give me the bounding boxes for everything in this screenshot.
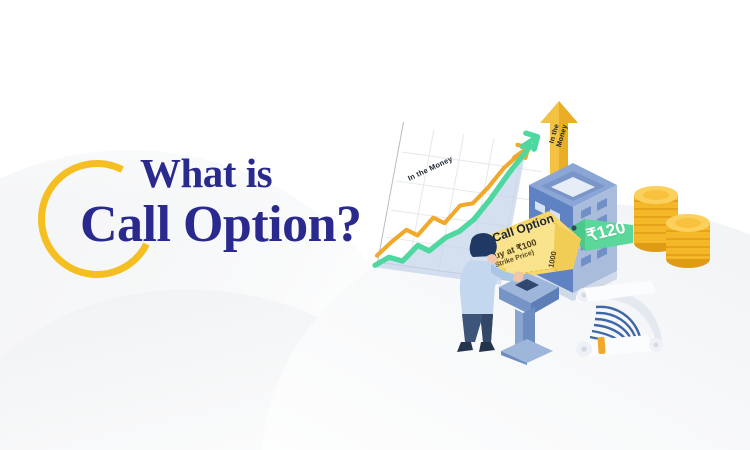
headline-line-1: What is (38, 150, 398, 196)
investor-person (447, 230, 525, 365)
receipt-scroll (570, 275, 678, 370)
headline-block: What is Call Option? (38, 150, 398, 295)
banner: What is Call Option? (0, 0, 750, 450)
page-title: What is Call Option? (38, 150, 398, 254)
gold-coins-stack (630, 177, 716, 272)
headline-line-2: Call Option? (38, 196, 398, 254)
illustration: In the Money In the Money (385, 85, 750, 405)
